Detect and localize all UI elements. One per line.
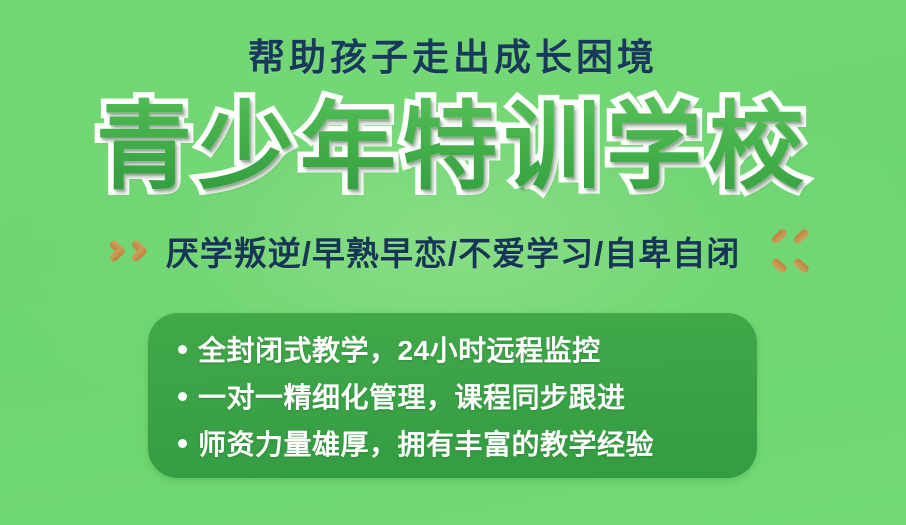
feature-item: 师资力量雄厚，拥有丰富的教学经验 <box>178 419 757 466</box>
feature-item: 一对一精细化管理，课程同步跟进 <box>178 372 757 419</box>
chevron-left-icon <box>778 233 798 269</box>
bullet-dot-icon <box>178 345 187 354</box>
poster-title-container: 青少年特训学校 青少年特训学校 <box>0 92 906 202</box>
chevron-left-group <box>756 233 798 269</box>
chevron-left-icon <box>756 233 776 269</box>
bullet-dot-icon <box>178 439 187 448</box>
chevron-right-icon <box>130 233 150 269</box>
chevron-right-group <box>108 233 150 269</box>
bullet-dot-icon <box>178 392 187 401</box>
title-fill-layer: 青少年特训学校 <box>96 91 810 203</box>
tagline-row: 厌学叛逆/早熟早恋/不爱学习/自卑自闭 <box>0 222 906 280</box>
features-panel: 全封闭式教学，24小时远程监控 一对一精细化管理，课程同步跟进 师资力量雄厚，拥… <box>148 313 757 478</box>
feature-label: 师资力量雄厚，拥有丰富的教学经验 <box>198 423 654 463</box>
page-title: 青少年特训学校 青少年特训学校 <box>96 92 810 202</box>
feature-label: 全封闭式教学，24小时远程监控 <box>198 329 601 369</box>
feature-label: 一对一精细化管理，课程同步跟进 <box>198 376 626 416</box>
chevron-right-icon <box>108 233 128 269</box>
poster-tagline: 厌学叛逆/早熟早恋/不爱学习/自卑自闭 <box>166 227 741 275</box>
poster-canvas: 帮助孩子走出成长困境 青少年特训学校 青少年特训学校 厌学叛逆/早熟早恋/不爱学… <box>0 0 906 525</box>
poster-subtitle: 帮助孩子走出成长困境 <box>0 36 906 80</box>
feature-item: 全封闭式教学，24小时远程监控 <box>178 325 757 372</box>
